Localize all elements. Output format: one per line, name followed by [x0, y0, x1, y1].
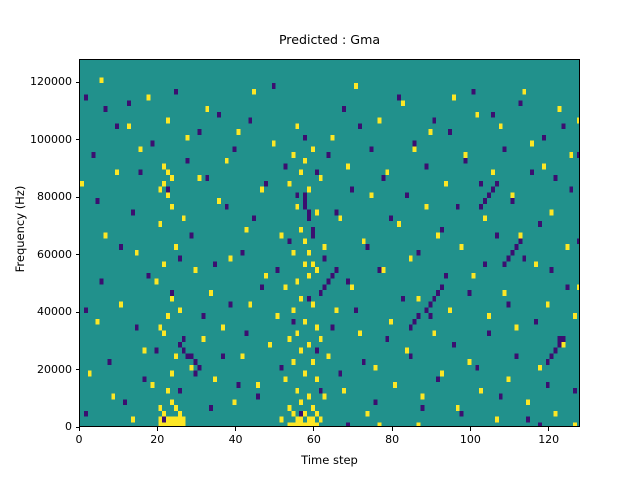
heatmap-image	[80, 60, 580, 427]
x-tick-mark	[157, 427, 158, 431]
x-tick-mark	[392, 427, 393, 431]
y-tick-label: 120000	[30, 76, 72, 87]
y-tick-mark	[76, 312, 80, 313]
page-title: Predicted : Gma	[79, 32, 580, 48]
y-tick-label: 40000	[37, 306, 72, 317]
matplotlib-figure: Predicted : Gma 020000400006000080000100…	[0, 0, 640, 480]
y-tick-label: 0	[65, 421, 72, 432]
y-tick-mark	[76, 197, 80, 198]
x-tick-label: 0	[49, 434, 109, 446]
y-tick-label: 20000	[37, 364, 72, 375]
x-tick-label: 120	[519, 434, 579, 446]
x-tick-label: 40	[206, 434, 266, 446]
x-tick-label: 100	[440, 434, 500, 446]
x-tick-mark	[470, 427, 471, 431]
x-tick-mark	[79, 427, 80, 431]
heatmap-plot-area	[79, 59, 580, 427]
x-tick-mark	[235, 427, 236, 431]
y-tick-label: 60000	[37, 249, 72, 260]
y-tick-mark	[76, 82, 80, 83]
x-tick-mark	[313, 427, 314, 431]
y-tick-label: 80000	[37, 191, 72, 202]
y-tick-mark	[76, 139, 80, 140]
x-tick-label: 20	[127, 434, 187, 446]
y-tick-label: 100000	[30, 134, 72, 145]
y-axis-label: Frequency (Hz)	[13, 129, 27, 329]
x-tick-label: 60	[284, 434, 344, 446]
y-tick-mark	[76, 369, 80, 370]
x-tick-label: 80	[362, 434, 422, 446]
y-tick-mark	[76, 254, 80, 255]
x-axis-label: Time step	[79, 453, 580, 467]
x-tick-mark	[548, 427, 549, 431]
